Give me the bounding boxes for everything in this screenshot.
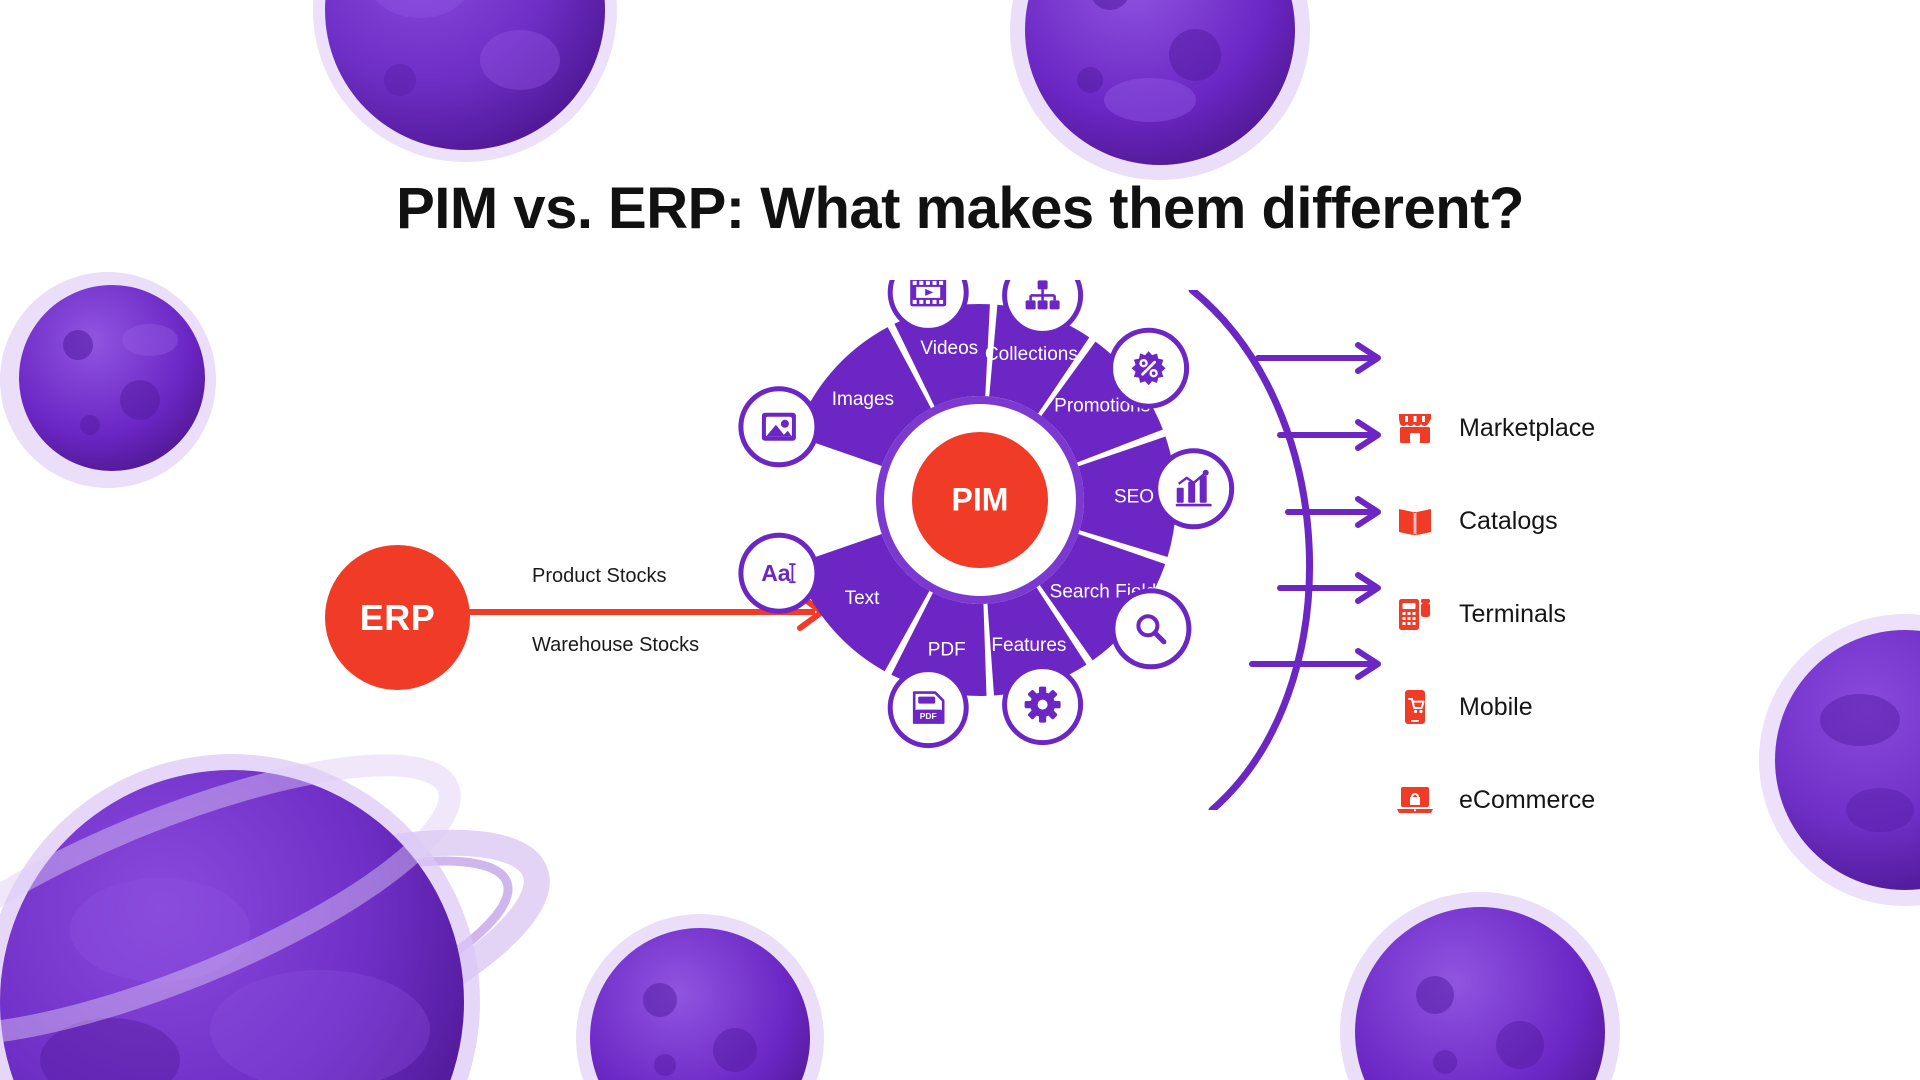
wheel-icon-bubble-features[interactable] xyxy=(1005,667,1081,743)
output-item-label: Terminals xyxy=(1459,600,1566,629)
wheel-segment-label: PDF xyxy=(928,639,966,660)
wheel-segment-label: Images xyxy=(832,389,894,410)
output-arrow-ecommerce xyxy=(1252,651,1378,677)
wheel-icon-bubble-videos[interactable] xyxy=(890,280,966,330)
text-aa-icon: Aa xyxy=(761,560,795,586)
output-item-mobile[interactable]: Mobile xyxy=(1395,669,1815,745)
output-item-label: Marketplace xyxy=(1459,414,1595,443)
svg-text:PDF: PDF xyxy=(920,711,937,721)
output-arrow-marketplace xyxy=(1258,345,1378,371)
gear-icon xyxy=(1025,687,1061,723)
wheel-icon-bubble-collections[interactable] xyxy=(1005,280,1081,333)
erp-node[interactable]: ERP xyxy=(325,545,470,690)
output-item-ecommerce[interactable]: eCommerce xyxy=(1395,762,1815,838)
output-arc xyxy=(1192,290,1310,810)
wheel-segment-label: Features xyxy=(991,635,1066,656)
pos-terminal-icon xyxy=(1395,594,1435,634)
output-arrow-mobile xyxy=(1280,575,1378,601)
svg-text:Aa: Aa xyxy=(761,560,791,586)
laptop-basket-icon xyxy=(1395,780,1435,820)
output-list: Marketplace Catalogs xyxy=(1395,390,1815,855)
storefront-icon xyxy=(1395,408,1435,448)
pim-center-label: PIM xyxy=(952,481,1009,517)
output-item-marketplace[interactable]: Marketplace xyxy=(1395,390,1815,466)
output-item-label: Catalogs xyxy=(1459,507,1558,536)
wheel-segment-label: Text xyxy=(845,588,881,609)
output-item-label: eCommerce xyxy=(1459,786,1595,815)
film-icon xyxy=(910,280,946,306)
open-book-icon xyxy=(1395,501,1435,541)
wheel-icon-bubble-images[interactable] xyxy=(741,389,817,465)
infographic-canvas: PIM vs. ERP: What makes them different? … xyxy=(0,0,1920,1080)
wheel-segment-label: Videos xyxy=(920,338,978,359)
wheel-icon-bubble-text[interactable]: Aa xyxy=(741,535,817,611)
page-title: PIM vs. ERP: What makes them different? xyxy=(0,175,1920,242)
wheel-icon-bubble-pdf[interactable]: PDF xyxy=(890,670,966,746)
mobile-cart-icon xyxy=(1395,687,1435,727)
image-icon xyxy=(762,413,796,441)
output-item-label: Mobile xyxy=(1459,693,1533,722)
icon-bubble-ring xyxy=(890,670,966,746)
erp-node-label: ERP xyxy=(360,597,436,639)
wheel-segment-label: Collections xyxy=(985,344,1078,365)
wheel-segment-label: SEO xyxy=(1114,486,1154,507)
output-item-terminals[interactable]: Terminals xyxy=(1395,576,1815,652)
output-item-catalogs[interactable]: Catalogs xyxy=(1395,483,1815,559)
